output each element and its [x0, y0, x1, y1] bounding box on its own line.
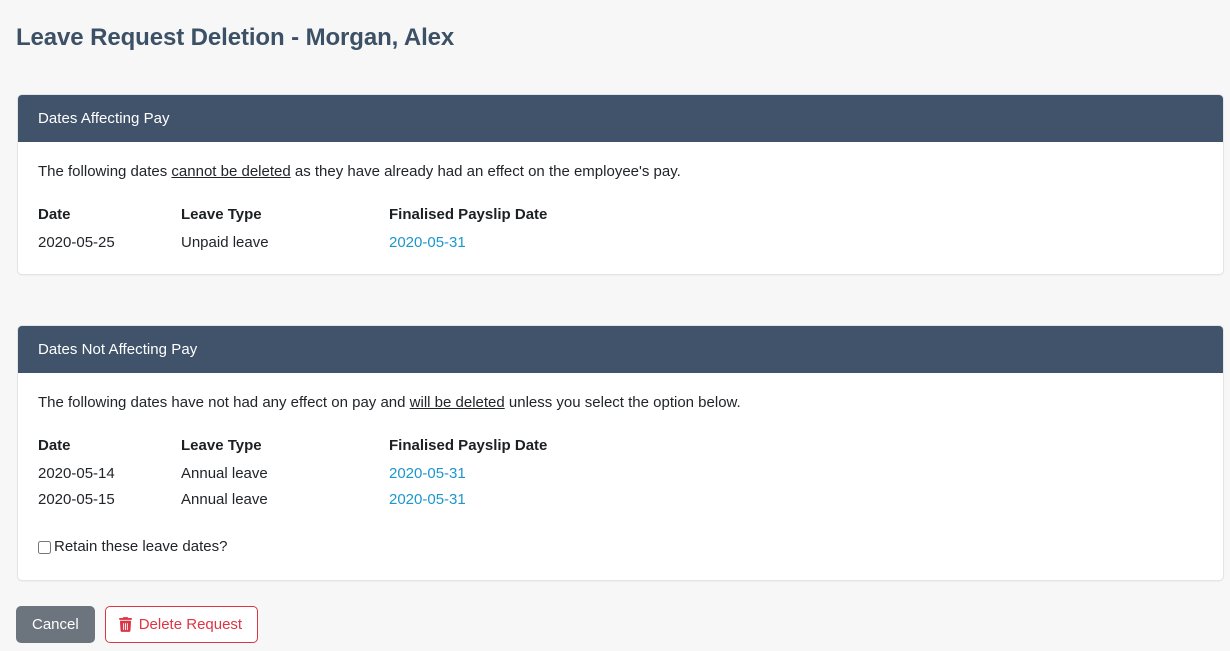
intro-text-emphasis: will be deleted — [410, 394, 505, 411]
table-head: Date Leave Type Finalised Payslip Date — [38, 435, 609, 461]
delete-request-label: Delete Request — [139, 615, 242, 635]
intro-text-emphasis: cannot be deleted — [171, 163, 290, 180]
column-header-leave-type: Leave Type — [181, 204, 389, 230]
table-row: 2020-05-25 Unpaid leave 2020-05-31 — [38, 230, 609, 256]
table-body: 2020-05-14 Annual leave 2020-05-31 2020-… — [38, 461, 609, 513]
column-header-finalised-payslip-date: Finalised Payslip Date — [389, 435, 609, 461]
intro-text: The following dates have not had any eff… — [38, 393, 1203, 413]
cell-leave-type: Annual leave — [181, 487, 389, 513]
page-title: Leave Request Deletion - Morgan, Alex — [16, 23, 454, 53]
card-body: The following dates cannot be deleted as… — [18, 142, 1223, 276]
table-header-row: Date Leave Type Finalised Payslip Date — [38, 435, 609, 461]
retain-leave-dates-checkbox[interactable] — [38, 541, 51, 554]
cell-finalised-payslip-date: 2020-05-31 — [389, 487, 609, 513]
payslip-date-link[interactable]: 2020-05-31 — [389, 491, 466, 508]
payslip-date-link[interactable]: 2020-05-31 — [389, 234, 466, 251]
cancel-button[interactable]: Cancel — [16, 606, 95, 643]
table-head: Date Leave Type Finalised Payslip Date — [38, 204, 609, 230]
card-header-dates-affecting-pay: Dates Affecting Pay — [18, 95, 1223, 142]
form-actions: Cancel Delete Request — [16, 606, 258, 643]
dates-not-affecting-pay-card: Dates Not Affecting Pay The following da… — [17, 325, 1224, 581]
dates-affecting-pay-card: Dates Affecting Pay The following dates … — [17, 94, 1224, 275]
intro-text-after: unless you select the option below. — [505, 394, 741, 411]
intro-text-before: The following dates — [38, 163, 171, 180]
cell-finalised-payslip-date: 2020-05-31 — [389, 461, 609, 487]
trash-icon — [119, 617, 132, 632]
cell-date: 2020-05-25 — [38, 230, 181, 256]
payslip-date-link[interactable]: 2020-05-31 — [389, 465, 466, 482]
column-header-leave-type: Leave Type — [181, 435, 389, 461]
table-header-row: Date Leave Type Finalised Payslip Date — [38, 204, 609, 230]
cell-date: 2020-05-14 — [38, 461, 181, 487]
card-header-title: Dates Not Affecting Pay — [38, 340, 197, 360]
card-header-title: Dates Affecting Pay — [38, 109, 170, 129]
intro-text: The following dates cannot be deleted as… — [38, 162, 1203, 182]
dates-not-affecting-pay-table: Date Leave Type Finalised Payslip Date 2… — [38, 435, 609, 513]
column-header-date: Date — [38, 204, 181, 230]
table-row: 2020-05-15 Annual leave 2020-05-31 — [38, 487, 609, 513]
delete-request-button[interactable]: Delete Request — [105, 606, 258, 643]
cell-leave-type: Annual leave — [181, 461, 389, 487]
cell-leave-type: Unpaid leave — [181, 230, 389, 256]
cell-finalised-payslip-date: 2020-05-31 — [389, 230, 609, 256]
card-header-dates-not-affecting-pay: Dates Not Affecting Pay — [18, 326, 1223, 373]
retain-leave-dates-label[interactable]: Retain these leave dates? — [54, 537, 227, 557]
column-header-finalised-payslip-date: Finalised Payslip Date — [389, 204, 609, 230]
table-row: 2020-05-14 Annual leave 2020-05-31 — [38, 461, 609, 487]
table-body: 2020-05-25 Unpaid leave 2020-05-31 — [38, 230, 609, 256]
column-header-date: Date — [38, 435, 181, 461]
intro-text-before: The following dates have not had any eff… — [38, 394, 410, 411]
intro-text-after: as they have already had an effect on th… — [291, 163, 681, 180]
card-body: The following dates have not had any eff… — [18, 373, 1223, 577]
dates-affecting-pay-table: Date Leave Type Finalised Payslip Date 2… — [38, 204, 609, 256]
leave-request-deletion-page: Leave Request Deletion - Morgan, Alex Da… — [0, 0, 1230, 651]
cell-date: 2020-05-15 — [38, 487, 181, 513]
retain-leave-dates-row: Retain these leave dates? — [38, 537, 1203, 557]
